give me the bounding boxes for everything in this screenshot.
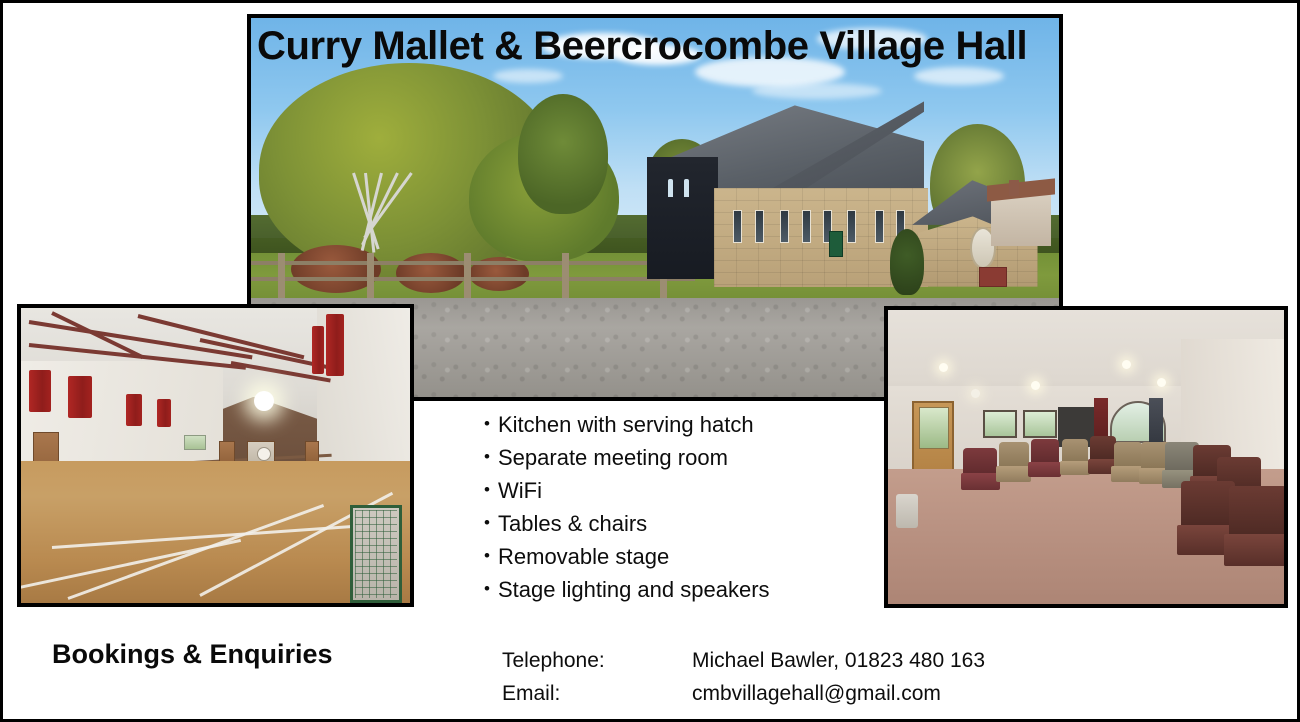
- downlight: [1031, 381, 1040, 390]
- red-curtain: [157, 399, 171, 427]
- chimney: [1009, 180, 1019, 196]
- armchair: [999, 442, 1029, 482]
- armchair: [1062, 439, 1088, 475]
- curtain: [1149, 398, 1163, 444]
- contact-details: Telephone: Michael Bawler, 01823 480 163…: [502, 644, 985, 710]
- tree: [518, 94, 608, 214]
- email-value[interactable]: cmbvillagehall@gmail.com: [692, 677, 941, 710]
- post-and-rail-fence: [251, 253, 695, 298]
- red-curtain: [68, 376, 92, 418]
- armchair: [1114, 442, 1142, 482]
- feature-item: Separate meeting room: [473, 441, 873, 474]
- main-hall-scene: [21, 308, 410, 603]
- storage-cage: [350, 505, 402, 603]
- meeting-room-window: [1023, 410, 1057, 438]
- downlight: [1157, 378, 1166, 387]
- features-items: Kitchen with serving hatch Separate meet…: [473, 408, 873, 606]
- noticeboard-sign: [829, 231, 843, 257]
- features-list: Kitchen with serving hatch Separate meet…: [473, 408, 873, 606]
- meeting-room-window: [983, 410, 1017, 438]
- feature-item: Removable stage: [473, 540, 873, 573]
- bookings-heading: Bookings & Enquiries: [52, 639, 333, 670]
- swing-frame: [340, 173, 460, 253]
- cloud-icon: [752, 83, 882, 99]
- red-curtain: [312, 326, 324, 374]
- armchair: [1229, 486, 1284, 566]
- hall-window: [184, 435, 206, 450]
- telephone-label: Telephone:: [502, 644, 692, 677]
- floor-stand: [896, 494, 918, 528]
- armchair: [1031, 439, 1059, 477]
- feature-item: Kitchen with serving hatch: [473, 408, 873, 441]
- bench: [979, 267, 1007, 287]
- dark-timber-gable: [647, 157, 718, 279]
- contact-row-email: Email: cmbvillagehall@gmail.com: [502, 677, 985, 710]
- red-curtain: [326, 314, 344, 376]
- village-hall-poster: Curry Mallet & Beercrocombe Village Hall: [0, 0, 1300, 722]
- page-title: Curry Mallet & Beercrocombe Village Hall: [257, 20, 1061, 72]
- armchair: [963, 448, 997, 490]
- red-curtain: [29, 370, 51, 412]
- downlight: [1122, 360, 1131, 369]
- feature-item: WiFi: [473, 474, 873, 507]
- neighbouring-house: [991, 192, 1051, 246]
- red-curtain: [126, 394, 142, 426]
- meeting-room-interior-photo: [884, 306, 1288, 608]
- ceiling-light: [254, 391, 274, 411]
- main-hall-interior-photo: [17, 304, 414, 607]
- hall-building: [647, 101, 1043, 298]
- conifer-shrub: [890, 229, 924, 295]
- telephone-value: Michael Bawler, 01823 480 163: [692, 644, 985, 677]
- email-label: Email:: [502, 677, 692, 710]
- feature-item: Tables & chairs: [473, 507, 873, 540]
- feature-item: Stage lighting and speakers: [473, 573, 873, 606]
- meeting-room-scene: [888, 310, 1284, 604]
- contact-row-telephone: Telephone: Michael Bawler, 01823 480 163: [502, 644, 985, 677]
